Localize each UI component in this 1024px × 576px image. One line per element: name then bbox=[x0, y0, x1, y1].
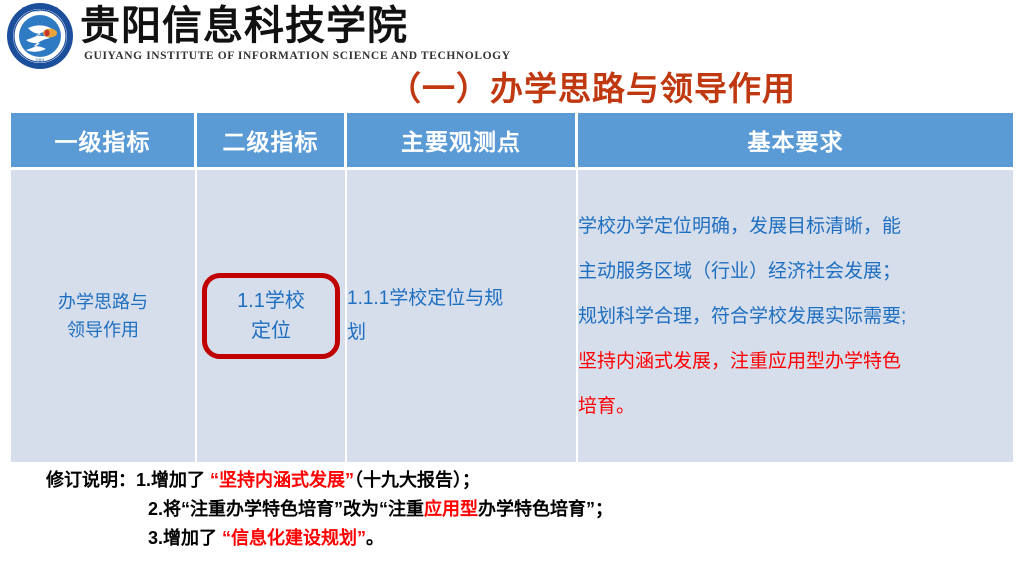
page-title: （一）办学思路与领导作用 bbox=[388, 62, 796, 110]
requirement-line-5: 培育。 bbox=[578, 384, 1013, 429]
cell-basic-requirement: 学校办学定位明确，发展目标清晰，能 主动服务区域（行业）经济社会发展； 规划科学… bbox=[578, 170, 1013, 462]
level1-line-2: 领导作用 bbox=[11, 316, 195, 344]
revision-3-part-3: 。 bbox=[366, 528, 384, 548]
cell-level2: 1.1学校 定位 bbox=[197, 170, 347, 462]
level2-highlight-box[interactable]: 1.1学校 定位 bbox=[202, 273, 340, 359]
revision-1-part-2: “坚持内涵式发展” bbox=[210, 470, 354, 490]
level1-line-1: 办学思路与 bbox=[11, 288, 195, 316]
revision-1-number: 1. bbox=[136, 470, 151, 490]
revision-note-1: 修订说明：1.增加了 “坚持内涵式发展”（十九大报告）； bbox=[46, 466, 613, 495]
observation-line-2: 划 bbox=[347, 316, 576, 350]
school-name-english: GUIYANG INSTITUTE OF INFORMATION SCIENCE… bbox=[84, 50, 511, 62]
revision-3-part-2: “信息化建设规划” bbox=[222, 528, 366, 548]
column-header-level2: 二级指标 bbox=[197, 113, 347, 170]
level2-line-1: 1.1学校 bbox=[221, 286, 321, 316]
requirement-line-2: 主动服务区域（行业）经济社会发展； bbox=[578, 249, 1013, 294]
revision-note-3: 3.增加了 “信息化建设规划”。 bbox=[46, 524, 613, 553]
column-header-level1: 一级指标 bbox=[11, 113, 197, 170]
revision-2-part-1: 将“注重办学特色培育”改为“注重 bbox=[163, 499, 424, 519]
brand-header: 2001 贵阳信息科技学院 贵阳信息科技学院 GUIYANG INSTITUTE… bbox=[0, 0, 420, 74]
revision-label: 修订说明： bbox=[46, 470, 136, 490]
revision-note-2: 2.将“注重办学特色培育”改为“注重应用型办学特色培育”； bbox=[46, 495, 613, 524]
revision-2-number: 2. bbox=[148, 499, 163, 519]
revision-2-part-3: 办学特色培育”； bbox=[478, 499, 613, 519]
school-emblem-icon: 2001 贵阳信息科技学院 bbox=[6, 2, 74, 70]
requirement-line-4: 坚持内涵式发展，注重应用型办学特色 bbox=[578, 339, 1013, 384]
requirement-line-1: 学校办学定位明确，发展目标清晰，能 bbox=[578, 204, 1013, 249]
revision-1-part-1: 增加了 bbox=[151, 470, 210, 490]
revision-notes: 修订说明：1.增加了 “坚持内涵式发展”（十九大报告）； 2.将“注重办学特色培… bbox=[46, 466, 613, 553]
cell-level1: 办学思路与 领导作用 bbox=[11, 170, 197, 462]
revision-3-number: 3. bbox=[148, 528, 163, 548]
column-header-requirement: 基本要求 bbox=[578, 113, 1013, 170]
column-header-observation: 主要观测点 bbox=[347, 113, 578, 170]
observation-line-1: 1.1.1学校定位与规 bbox=[347, 282, 576, 316]
cell-observation-point: 1.1.1学校定位与规 划 bbox=[347, 170, 578, 462]
revision-3-part-1: 增加了 bbox=[163, 528, 222, 548]
requirement-line-3: 规划科学合理，符合学校发展实际需要; bbox=[578, 294, 1013, 339]
svg-text:2001: 2001 bbox=[35, 59, 46, 64]
indicator-table: 一级指标 二级指标 主要观测点 基本要求 办学思路与 领导作用 1.1学校 定位… bbox=[11, 113, 1013, 462]
revision-1-part-3: （十九大报告）； bbox=[354, 470, 480, 490]
school-name-chinese: 贵阳信息科技学院 bbox=[80, 2, 408, 50]
revision-2-part-2: 应用型 bbox=[424, 499, 478, 519]
table-row: 办学思路与 领导作用 1.1学校 定位 1.1.1学校定位与规 划 学校办学定位… bbox=[11, 170, 1013, 462]
level2-line-2: 定位 bbox=[221, 316, 321, 346]
svg-text:贵阳信息科技学院: 贵阳信息科技学院 bbox=[22, 6, 59, 13]
table-header-row: 一级指标 二级指标 主要观测点 基本要求 bbox=[11, 113, 1013, 170]
